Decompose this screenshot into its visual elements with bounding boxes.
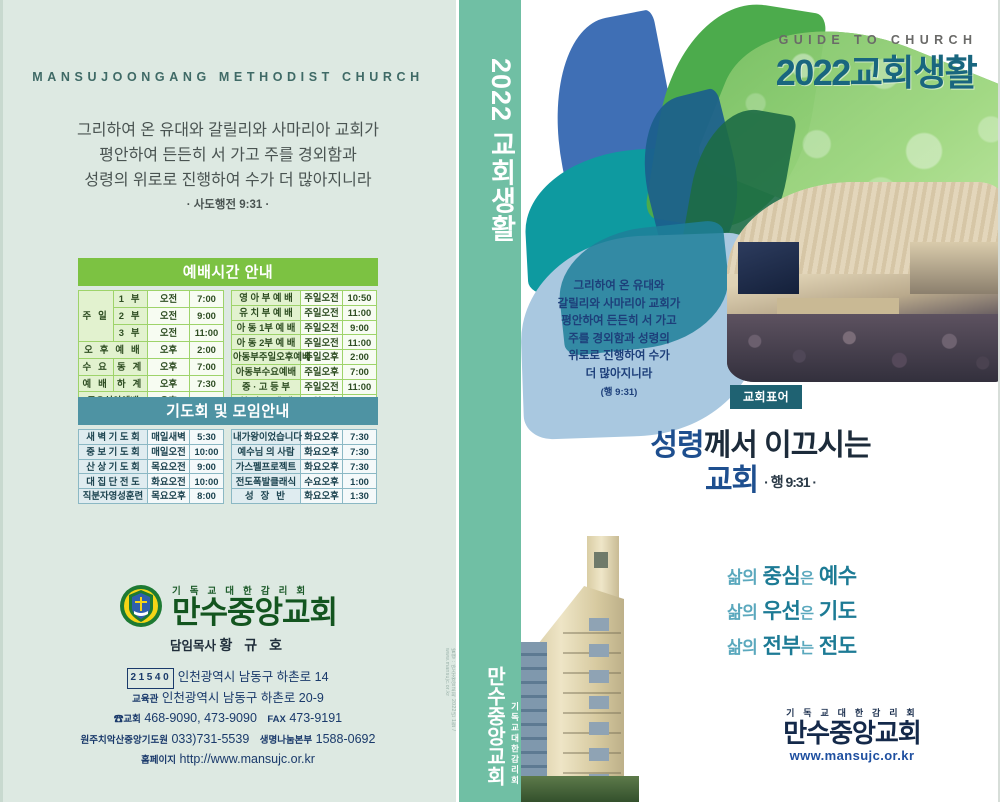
worship-time: 2:00 — [190, 341, 224, 358]
slogan-rest-1: 께서 이끄시는 — [704, 429, 871, 462]
worship-when: 오후 — [148, 341, 190, 358]
building-tower-window — [594, 552, 608, 568]
worship-name: 하 계 — [113, 375, 148, 392]
sanctuary-screen — [738, 242, 799, 294]
verse-line-1: 그리하여 온 유대와 갈릴리와 사마리아 교회가 — [0, 118, 456, 143]
sanctuary-congregation — [727, 314, 1000, 382]
worship-time: 11:00 — [190, 324, 224, 341]
slogan-reference: · 행 9:31 · — [764, 474, 816, 490]
worship-when: 오후 — [148, 358, 190, 375]
table-row: 직분자영성훈련 목요오후 8:00 — [79, 489, 224, 504]
spine-publisher-note: 발행 : 만수중앙교회 2022년 1월 / www.mansujc.or.kr — [441, 648, 457, 768]
prayer-name: 성 장 반 — [232, 489, 301, 504]
life-slogan-1: 삶의 중심은 예수 — [727, 560, 967, 595]
homepage-line: 홈페이지 http://www.mansujc.or.kr — [0, 750, 456, 771]
life-slogan-3-key: 전부 — [763, 635, 801, 658]
prayer-meeting-block: 기도회 및 모임안내 새 벽 기 도 회 매일새벽 5:30 중 보 기 도 회… — [78, 397, 378, 504]
prayer-when: 목요오후 — [148, 489, 190, 504]
life-slogan-3-val: 전도 — [819, 635, 857, 658]
cover-verse-reference: (행 9:31) — [533, 384, 705, 398]
prayer-when: 목요오전 — [148, 459, 190, 474]
phone-number: 468-9090, 473-9090 — [144, 711, 257, 725]
back-cover-church-text: 기 독 교 대 한 감 리 회 만수중앙교회 — [172, 583, 337, 630]
worship-schedule-title: 예배시간 안내 — [78, 258, 378, 286]
slogan-badge: 교회표어 — [730, 385, 802, 409]
cover-verse-line-6: 더 많아지니라 — [533, 366, 705, 384]
front-cover-url[interactable]: www.mansujc.or.kr — [727, 748, 977, 763]
worship-name: 동 계 — [113, 358, 148, 375]
life-slogan-2-mid: 은 — [800, 605, 813, 622]
prayer-name: 대 집 단 전 도 — [79, 474, 148, 489]
worship-time: 7:30 — [190, 375, 224, 392]
phone-label: ☎교회 — [114, 714, 141, 725]
life-slogan-1-val: 예수 — [819, 565, 857, 588]
life-slogan-2-val: 기도 — [819, 600, 857, 623]
life-share-label: 생명나눔본부 — [260, 735, 312, 746]
table-row: 아 동 2부 예 배 주일오전 11:00 — [232, 335, 377, 350]
front-cover-panel: GUIDE TO CHURCH 2022교회생활 그리하여 온 유대와 갈릴리와… — [521, 0, 1000, 802]
church-building-photo — [521, 522, 723, 802]
prayer-house-line: 원주치악산중앙기도원 033)731-5539 생명나눔본부 1588-0692 — [0, 730, 456, 751]
prayer-name: 중 보 기 도 회 — [79, 444, 148, 459]
verse-line-2: 평안하여 든든히 서 가고 주를 경외함과 — [0, 143, 456, 168]
worship-when: 주일오후 — [301, 364, 343, 379]
life-share-phone: 1588-0692 — [316, 732, 376, 746]
slogan-highlight-church: 교회 — [705, 464, 758, 497]
back-cover-panel: MANSUJOONGANG METHODIST CHURCH 그리하여 온 유대… — [0, 0, 456, 802]
worship-name: 2 부 — [113, 307, 148, 324]
life-slogan-3-mid: 는 — [800, 640, 813, 657]
worship-when: 주일오전 — [301, 320, 343, 335]
cover-verse-line-3: 평안하여 든든히 서 가고 — [533, 313, 705, 331]
prayer-name: 산 상 기 도 회 — [79, 459, 148, 474]
prayer-time: 7:30 — [343, 459, 377, 474]
worship-when: 주일오후 — [301, 350, 343, 365]
fax-number: 473-9191 — [289, 711, 342, 725]
prayer-house-phone: 033)731-5539 — [171, 732, 249, 746]
life-slogan-list: 삶의 중심은 예수 삶의 우선은 기도 삶의 전부는 전도 — [727, 560, 967, 665]
address-edu: 인천광역시 남동구 하촌로 20-9 — [162, 691, 324, 705]
prayer-when: 화요오후 — [301, 444, 343, 459]
worship-name: 3 부 — [113, 324, 148, 341]
pastor-label: 담임목사 — [170, 639, 216, 653]
worship-group-wednesday: 수 요 — [79, 358, 114, 375]
worship-time: 11:00 — [343, 379, 377, 394]
back-cover-verse-reference: · 사도행전 9:31 · — [0, 196, 456, 212]
table-row: 새 벽 기 도 회 매일새벽 5:30 — [79, 430, 224, 445]
homepage-label: 홈페이지 — [141, 755, 176, 766]
worship-group-sunday: 주 일 — [79, 291, 114, 342]
table-row: 성 장 반 화요오후 1:30 — [232, 489, 377, 504]
prayer-name: 직분자영성훈련 — [79, 489, 148, 504]
prayer-when: 화요오후 — [301, 430, 343, 445]
cover-verse-line-2: 갈릴리와 사마리아 교회가 — [533, 296, 705, 314]
prayer-time: 8:00 — [190, 489, 224, 504]
address-edu-line: 교육관 인천광역시 남동구 하촌로 20-9 — [0, 689, 456, 710]
table-row: 예수님 의 사람 화요오후 7:30 — [232, 444, 377, 459]
table-row: 오 후 예 배 오후 2:00 — [79, 341, 224, 358]
sanctuary-balcony — [910, 242, 1000, 294]
worship-when: 주일오전 — [301, 379, 343, 394]
worship-name: 아 동 2부 예 배 — [232, 335, 301, 350]
prayer-when: 화요오후 — [301, 489, 343, 504]
prayer-when: 매일새벽 — [148, 430, 190, 445]
worship-time: 10:50 — [343, 291, 377, 306]
verse-line-3: 성령의 위로로 진행하여 수가 더 많아지니라 — [0, 168, 456, 193]
life-slogan-3-pre: 삶의 — [727, 638, 757, 657]
prayer-meeting-table-left: 새 벽 기 도 회 매일새벽 5:30 중 보 기 도 회 매일오전 10:00… — [78, 429, 224, 504]
front-cover-identity: 기 독 교 대 한 감 리 회 만수중앙교회 www.mansujc.or.kr — [727, 706, 977, 763]
sanctuary-photo — [727, 182, 1000, 382]
worship-when: 오전 — [148, 291, 190, 308]
life-slogan-1-mid: 은 — [800, 570, 813, 587]
worship-time: 11:00 — [343, 305, 377, 320]
worship-schedule-block: 예배시간 안내 주 일 1 부 오전 7:00 2 부 오전 9:00 — [78, 258, 378, 409]
prayer-name: 예수님 의 사람 — [232, 444, 301, 459]
worship-name: 아동부수요예배 — [232, 364, 301, 379]
worship-when: 주일오전 — [301, 291, 343, 306]
worship-name: 영 아 부 예 배 — [232, 291, 301, 306]
homepage-url[interactable]: http://www.mansujc.or.kr — [179, 752, 314, 766]
life-slogan-2-pre: 삶의 — [727, 603, 757, 622]
cover-verse: 그리하여 온 유대와 갈릴리와 사마리아 교회가 평안하여 든든히 서 가고 주… — [533, 278, 705, 383]
church-crest-icon — [119, 584, 163, 628]
prayer-time: 1:00 — [343, 474, 377, 489]
table-row: 중 · 고 등 부 주일오전 11:00 — [232, 379, 377, 394]
worship-time: 9:00 — [343, 320, 377, 335]
life-slogan-2-key: 우선 — [763, 600, 801, 623]
prayer-house-label: 원주치악산중앙기도원 — [81, 735, 168, 746]
worship-name: 중 · 고 등 부 — [232, 379, 301, 394]
back-cover-identity: 기 독 교 대 한 감 리 회 만수중앙교회 — [0, 583, 456, 630]
guide-to-church-label: GUIDE TO CHURCH — [755, 33, 1000, 47]
table-row: 중 보 기 도 회 매일오전 10:00 — [79, 444, 224, 459]
pastor-name: 황 규 호 — [220, 637, 286, 653]
fax-label: FAX — [267, 714, 285, 725]
church-slogan: 성령께서 이끄시는 교회· 행 9:31 · — [521, 428, 1000, 499]
cover-verse-line-5: 위로로 진행하여 수가 — [533, 348, 705, 366]
prayer-time: 1:30 — [343, 489, 377, 504]
worship-when: 오전 — [148, 324, 190, 341]
prayer-meeting-table-right: 내가왕이었습니다 화요오후 7:30 예수님 의 사람 화요오후 7:30 가스… — [231, 429, 377, 504]
building-windows — [589, 618, 609, 798]
prayer-time: 9:00 — [190, 459, 224, 474]
prayer-time: 10:00 — [190, 444, 224, 459]
prayer-name: 새 벽 기 도 회 — [79, 430, 148, 445]
worship-when: 오후 — [148, 375, 190, 392]
spine-title: 2022 교회생활 — [459, 58, 521, 318]
prayer-when: 수요오후 — [301, 474, 343, 489]
table-row: 아 동 1부 예 배 주일오전 9:00 — [232, 320, 377, 335]
table-row: 내가왕이었습니다 화요오후 7:30 — [232, 430, 377, 445]
spine-church-name: 만수중앙교회 — [480, 636, 509, 786]
worship-time: 7:00 — [190, 358, 224, 375]
senior-pastor-line: 담임목사 황 규 호 — [0, 635, 456, 655]
worship-name: 유 치 부 예 배 — [232, 305, 301, 320]
life-slogan-1-key: 중심 — [763, 565, 801, 588]
table-row: 예 배 하 계 오후 7:30 — [79, 375, 224, 392]
worship-time: 2:00 — [343, 350, 377, 365]
table-row: 영 아 부 예 배 주일오전 10:50 — [232, 291, 377, 306]
worship-when: 주일오전 — [301, 335, 343, 350]
worship-when: 오전 — [148, 307, 190, 324]
life-slogan-2: 삶의 우선은 기도 — [727, 595, 967, 630]
prayer-name: 내가왕이었습니다 — [232, 430, 301, 445]
address-main: 인천광역시 남동구 하촌로 14 — [178, 670, 329, 684]
cover-verse-line-4: 주를 경외함과 성령의 — [533, 331, 705, 349]
worship-name: 아동부주일오후예배 — [232, 350, 301, 365]
prayer-when: 매일오전 — [148, 444, 190, 459]
worship-time: 9:00 — [190, 307, 224, 324]
worship-name: 오 후 예 배 — [79, 341, 148, 358]
table-row: 가스펠프로젝트 화요오후 7:30 — [232, 459, 377, 474]
edu-label: 교육관 — [132, 694, 158, 705]
slogan-line-2: 교회· 행 9:31 · — [521, 463, 1000, 498]
spine-identity: 기독교대한감리회 만수중앙교회 — [459, 636, 521, 786]
worship-schedule-table-right: 영 아 부 예 배 주일오전 10:50 유 치 부 예 배 주일오전 11:0… — [231, 290, 377, 409]
worship-group-wednesday-2: 예 배 — [79, 375, 114, 392]
address-main-line: 21540 인천광역시 남동구 하촌로 14 — [0, 668, 456, 689]
prayer-time: 7:30 — [343, 444, 377, 459]
worship-name: 1 부 — [113, 291, 148, 308]
table-row: 아동부수요예배 주일오후 7:00 — [232, 364, 377, 379]
table-row: 전도폭발클래식 수요오후 1:00 — [232, 474, 377, 489]
building-landscaping — [521, 776, 639, 802]
cover-title: 2022교회생활 — [751, 54, 1000, 92]
brochure-page: MANSUJOONGANG METHODIST CHURCH 그리하여 온 유대… — [0, 0, 1000, 802]
spine-denomination: 기독교대한감리회 — [509, 636, 521, 786]
prayer-when: 화요오후 — [301, 459, 343, 474]
table-row: 대 집 단 전 도 화요오전 10:00 — [79, 474, 224, 489]
prayer-when: 화요오전 — [148, 474, 190, 489]
zipcode: 21540 — [127, 668, 174, 689]
life-slogan-3: 삶의 전부는 전도 — [727, 630, 967, 665]
prayer-time: 7:30 — [343, 430, 377, 445]
slogan-line-1: 성령께서 이끄시는 — [521, 428, 1000, 463]
front-cover-church-name: 만수중앙교회 — [727, 719, 977, 748]
prayer-meeting-title: 기도회 및 모임안내 — [78, 397, 378, 425]
slogan-highlight-spirit: 성령 — [650, 429, 703, 462]
worship-when: 주일오전 — [301, 305, 343, 320]
contact-block: 21540 인천광역시 남동구 하촌로 14 교육관 인천광역시 남동구 하촌로… — [0, 668, 456, 771]
back-cover-verse: 그리하여 온 유대와 갈릴리와 사마리아 교회가 평안하여 든든히 서 가고 주… — [0, 118, 456, 193]
table-row: 주 일 1 부 오전 7:00 — [79, 291, 224, 308]
table-row: 유 치 부 예 배 주일오전 11:00 — [232, 305, 377, 320]
back-cover-english-title: MANSUJOONGANG METHODIST CHURCH — [0, 70, 456, 84]
cover-verse-line-1: 그리하여 온 유대와 — [533, 278, 705, 296]
worship-time: 11:00 — [343, 335, 377, 350]
back-cover-church-name: 만수중앙교회 — [172, 597, 337, 630]
worship-schedule-table-left: 주 일 1 부 오전 7:00 2 부 오전 9:00 3 부 오전 — [78, 290, 224, 409]
prayer-time: 10:00 — [190, 474, 224, 489]
worship-time: 7:00 — [343, 364, 377, 379]
worship-name: 아 동 1부 예 배 — [232, 320, 301, 335]
worship-time: 7:00 — [190, 291, 224, 308]
table-row: 산 상 기 도 회 목요오전 9:00 — [79, 459, 224, 474]
prayer-name: 가스펠프로젝트 — [232, 459, 301, 474]
prayer-time: 5:30 — [190, 430, 224, 445]
table-row: 수 요 동 계 오후 7:00 — [79, 358, 224, 375]
phone-line: ☎교회 468-9090, 473-9090 FAX 473-9191 — [0, 709, 456, 730]
prayer-name: 전도폭발클래식 — [232, 474, 301, 489]
life-slogan-1-pre: 삶의 — [727, 568, 757, 587]
table-row: 아동부주일오후예배 주일오후 2:00 — [232, 350, 377, 365]
